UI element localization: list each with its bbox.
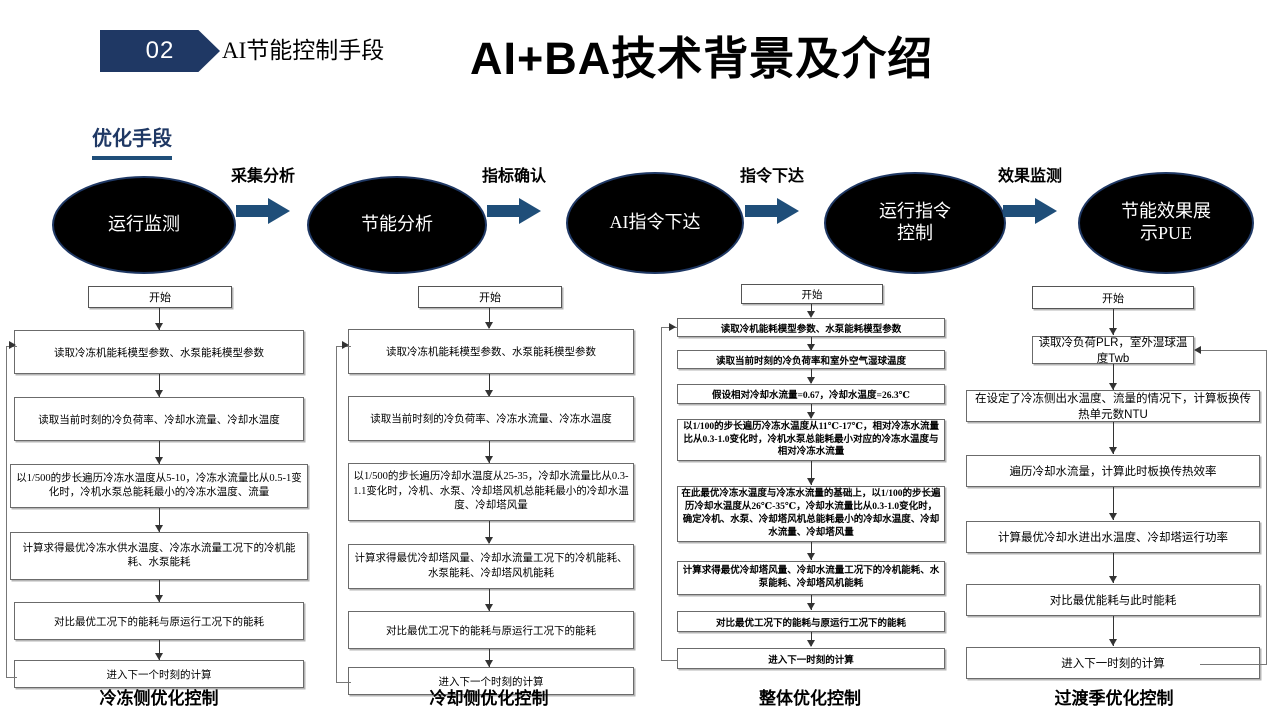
node-step: 对比最优工况下的能耗与原运行工况下的能耗 — [14, 602, 304, 640]
node-start: 开始 — [741, 284, 883, 304]
arrow-icon — [1003, 198, 1057, 224]
node-text: 开始 — [802, 287, 823, 302]
node-step: 计算求得最优冷却塔风量、冷却水流量工况下的冷机能耗、水泵能耗、冷却塔风机能耗 — [348, 544, 634, 589]
arrow-icon — [487, 198, 541, 224]
flow-arrow-label: 指标确认 — [464, 162, 564, 186]
connector-arrow-icon — [1109, 447, 1117, 454]
flow-node-label: AI指令下达 — [609, 212, 701, 234]
loop-connector — [336, 346, 351, 683]
node-text: 计算求得最优冷却塔风量、冷却水流量工况下的冷机能耗、水泵能耗、冷却塔风机能耗 — [352, 552, 630, 581]
loop-arrow-icon — [1194, 346, 1201, 354]
connector-arrow-icon — [1109, 576, 1117, 583]
node-step: 读取冷冻机能耗模型参数、水泵能耗模型参数 — [348, 329, 634, 374]
node-text: 在此最优冷冻水温度与冷冻水流量的基础上，以1/100的步长遍历冷却水温度从26℃… — [681, 488, 941, 539]
node-step: 读取当前时刻的冷负荷率和室外空气湿球温度 — [677, 350, 945, 369]
connector-arrow-icon — [485, 660, 493, 667]
connector-arrow-icon — [155, 595, 163, 602]
loop-connector — [1200, 350, 1267, 665]
connector-arrow-icon — [1109, 639, 1117, 646]
node-text: 进入下一个时刻的计算 — [107, 667, 212, 682]
connector-arrow-icon — [1109, 383, 1117, 390]
node-text: 对比最优工况下的能耗与原运行工况下的能耗 — [54, 614, 264, 629]
node-step: 读取冷机能耗模型参数、水泵能耗模型参数 — [677, 318, 945, 337]
flowchart-column-1: 开始 读取冷冻机能耗模型参数、水泵能耗模型参数 读取当前时刻的冷负荷率、冷却水流… — [0, 286, 318, 666]
flow-node-3: AI指令下达 — [566, 172, 744, 274]
node-text: 以1/100的步长遍历冷冻水温度从11℃-17℃，相对冷冻水流量比从0.3-1.… — [681, 421, 941, 459]
caption-column-2: 冷却侧优化控制 — [330, 684, 648, 709]
caption-column-3: 整体优化控制 — [655, 684, 965, 709]
node-text: 读取冷冻机能耗模型参数、水泵能耗模型参数 — [54, 345, 264, 360]
node-text: 开始 — [1102, 290, 1124, 306]
connector-arrow-icon — [485, 604, 493, 611]
node-step-last: 进入下一时刻的计算 — [677, 648, 945, 669]
section-title: AI节能控制手段 — [222, 36, 432, 65]
arrow-icon — [745, 198, 799, 224]
node-text: 进入下一时刻的计算 — [1061, 655, 1165, 671]
flow-node-label: 节能分析 — [361, 214, 433, 236]
node-text: 对比最优工况下的能耗与原运行工况下的能耗 — [716, 615, 906, 629]
loop-connector — [661, 327, 678, 661]
connector-arrow-icon — [807, 640, 815, 647]
connector-arrow-icon — [807, 478, 815, 485]
node-text: 读取冷机能耗模型参数、水泵能耗模型参数 — [721, 321, 902, 335]
node-text: 对比最优工况下的能耗与原运行工况下的能耗 — [386, 623, 596, 638]
connector-arrow-icon — [155, 457, 163, 464]
node-step: 读取冷冻机能耗模型参数、水泵能耗模型参数 — [14, 330, 304, 374]
connector-arrow-icon — [807, 553, 815, 560]
page-title: AI+BA技术背景及介绍 — [470, 22, 1110, 87]
slide-root: 02 AI节能控制手段 AI+BA技术背景及介绍 优化手段 运行监测 采集分析 … — [0, 0, 1268, 722]
node-step: 读取冷负荷PLR，室外湿球温度Twb — [1032, 336, 1194, 364]
node-text: 假设相对冷却水流量=0.67，冷却水温度=26.3℃ — [712, 387, 910, 401]
connector-arrow-icon — [155, 323, 163, 330]
node-text: 进入下一时刻的计算 — [768, 652, 854, 666]
arrow-icon — [236, 198, 290, 224]
node-text: 对比最优能耗与此时能耗 — [1050, 592, 1177, 608]
node-step: 以1/500的步长遍历冷冻水温度从5-10，冷冻水流量比从0.5-1变化时，冷机… — [10, 464, 308, 508]
node-text: 计算求得最优冷却塔风量、冷却水流量工况下的冷机能耗、水泵能耗、冷却塔风机能耗 — [681, 565, 941, 591]
node-text: 读取当前时刻的冷负荷率、冷却水流量、冷却水温度 — [38, 412, 280, 427]
node-text: 以1/500的步长遍历冷冻水温度从5-10，冷冻水流量比从0.5-1变化时，冷机… — [14, 472, 304, 500]
node-step: 在此最优冷冻水温度与冷冻水流量的基础上，以1/100的步长遍历冷却水温度从26℃… — [677, 486, 945, 542]
node-text: 读取当前时刻的冷负荷率、冷冻水流量、冷冻水温度 — [370, 411, 612, 426]
connector-arrow-icon — [155, 653, 163, 660]
connector-arrow-icon — [485, 537, 493, 544]
flow-arrow-label: 采集分析 — [213, 162, 313, 186]
node-text: 读取冷负荷PLR，室外湿球温度Twb — [1036, 334, 1190, 366]
flow-node-1: 运行监测 — [52, 176, 236, 274]
loop-arrow-icon — [669, 323, 676, 331]
node-text: 以1/500的步长遍历冷却水温度从25-35，冷却水流量比从0.3-1.1变化时… — [352, 470, 630, 514]
node-text: 开始 — [149, 289, 171, 305]
loop-arrow-icon — [9, 341, 16, 349]
flowchart-column-2: 开始 读取冷冻机能耗模型参数、水泵能耗模型参数 读取当前时刻的冷负荷率、冷冻水流… — [330, 286, 648, 666]
loop-connector — [6, 346, 17, 678]
flowchart-column-4: 开始 读取冷负荷PLR，室外湿球温度Twb 在设定了冷冻侧出水温度、流量的情况下… — [960, 286, 1268, 666]
node-text: 遍历冷却水流量，计算此时板换传热效率 — [1010, 463, 1217, 479]
flow-node-label: 节能效果展示PUE — [1113, 201, 1219, 245]
subsection-label: 优化手段 — [92, 122, 172, 160]
caption-column-4: 过渡季优化控制 — [960, 684, 1268, 709]
node-start: 开始 — [1032, 286, 1194, 309]
node-text: 读取当前时刻的冷负荷率和室外空气湿球温度 — [716, 353, 906, 367]
node-step: 假设相对冷却水流量=0.67，冷却水温度=26.3℃ — [677, 384, 945, 404]
node-text: 读取冷冻机能耗模型参数、水泵能耗模型参数 — [386, 344, 596, 359]
node-step: 计算求得最优冷却塔风量、冷却水流量工况下的冷机能耗、水泵能耗、冷却塔风机能耗 — [677, 561, 945, 595]
connector-arrow-icon — [807, 311, 815, 318]
connector-arrow-icon — [807, 603, 815, 610]
node-step: 对比最优工况下的能耗与原运行工况下的能耗 — [348, 611, 634, 649]
connector-arrow-icon — [155, 525, 163, 532]
flow-node-label: 运行监测 — [108, 214, 180, 236]
connector-arrow-icon — [485, 456, 493, 463]
flow-node-5: 节能效果展示PUE — [1078, 172, 1254, 274]
process-flow: 运行监测 采集分析 节能分析 指标确认 AI指令下达 指令下达 — [0, 168, 1268, 278]
node-step: 读取当前时刻的冷负荷率、冷冻水流量、冷冻水温度 — [348, 396, 634, 441]
node-step: 计算求得最优冷冻水供水温度、冷冻水流量工况下的冷机能耗、水泵能耗 — [10, 532, 308, 580]
loop-arrow-icon — [342, 341, 349, 349]
caption-column-1: 冷冻侧优化控制 — [0, 684, 318, 709]
connector-arrow-icon — [155, 390, 163, 397]
node-start: 开始 — [88, 286, 232, 308]
connector-arrow-icon — [807, 377, 815, 384]
flowchart-column-3: 开始 读取冷机能耗模型参数、水泵能耗模型参数 读取当前时刻的冷负荷率和室外空气湿… — [655, 286, 965, 666]
node-text: 计算求得最优冷冻水供水温度、冷冻水流量工况下的冷机能耗、水泵能耗 — [14, 542, 304, 570]
section-number-badge: 02 — [100, 30, 220, 72]
flow-arrow-label: 指令下达 — [722, 162, 822, 186]
node-text: 计算最优冷却水进出水温度、冷却塔运行功率 — [998, 529, 1228, 545]
node-step: 以1/100的步长遍历冷冻水温度从11℃-17℃，相对冷冻水流量比从0.3-1.… — [677, 419, 945, 461]
flow-node-2: 节能分析 — [307, 176, 487, 274]
connector-arrow-icon — [807, 412, 815, 419]
connector-arrow-icon — [1109, 513, 1117, 520]
flow-node-label: 运行指令控制 — [872, 201, 958, 245]
node-step: 读取当前时刻的冷负荷率、冷却水流量、冷却水温度 — [14, 397, 304, 441]
flow-node-4: 运行指令控制 — [824, 172, 1006, 274]
node-text: 开始 — [479, 289, 501, 305]
node-start: 开始 — [418, 286, 562, 308]
node-step: 对比最优工况下的能耗与原运行工况下的能耗 — [677, 611, 945, 632]
connector-arrow-icon — [485, 322, 493, 329]
flow-arrow-label: 效果监测 — [980, 162, 1080, 186]
node-step: 以1/500的步长遍历冷却水温度从25-35，冷却水流量比从0.3-1.1变化时… — [348, 463, 634, 521]
